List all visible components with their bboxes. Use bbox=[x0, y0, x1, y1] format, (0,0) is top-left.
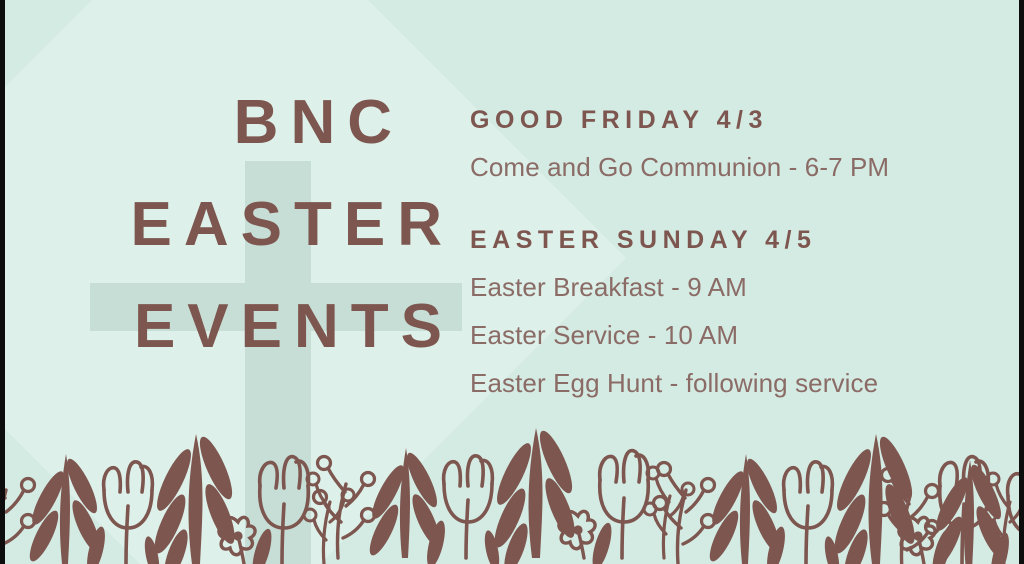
easter-events-poster: BNC EASTER EVENTS GOOD FRIDAY 4/3 Come a… bbox=[0, 0, 1024, 564]
event-item-breakfast: Easter Breakfast - 9 AM bbox=[470, 272, 990, 302]
events-list: GOOD FRIDAY 4/3 Come and Go Communion - … bbox=[470, 104, 990, 398]
page-title-line-3: EVENTS bbox=[0, 276, 462, 378]
event-item-service: Easter Service - 10 AM bbox=[470, 320, 990, 350]
event-item-communion: Come and Go Communion - 6-7 PM bbox=[470, 152, 990, 182]
page-title-line-2: EASTER bbox=[0, 174, 462, 276]
floral-border bbox=[0, 394, 1024, 564]
page-title-line-1: BNC bbox=[0, 72, 462, 174]
left-letterbox-edge bbox=[0, 0, 5, 564]
event-group-heading-good-friday: GOOD FRIDAY 4/3 bbox=[470, 104, 990, 136]
page-title: BNC EASTER EVENTS bbox=[0, 72, 462, 378]
event-group-heading-easter-sunday: EASTER SUNDAY 4/5 bbox=[470, 224, 990, 256]
right-letterbox-edge bbox=[1019, 0, 1024, 564]
